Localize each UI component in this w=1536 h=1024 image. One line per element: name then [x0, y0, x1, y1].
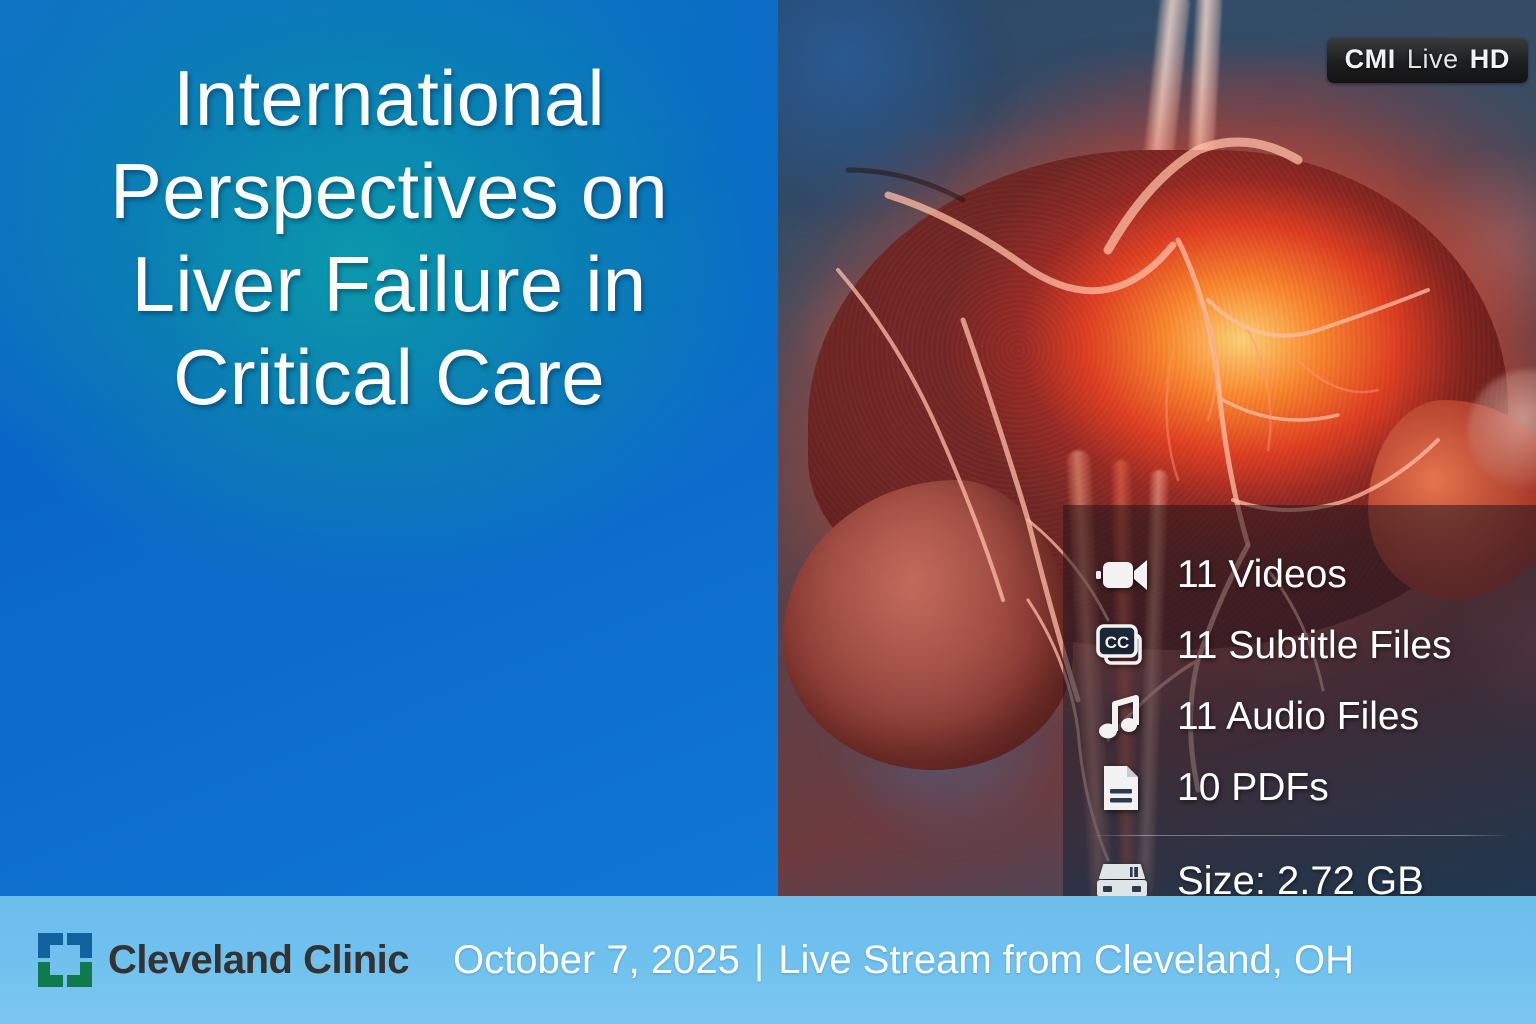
asset-row-audio: 11 Audio Files [1089, 681, 1536, 752]
asset-row-subtitles: CC 11 Subtitle Files [1089, 610, 1536, 681]
asset-row-pdfs: 10 PDFs [1089, 752, 1536, 823]
badge-quality-label: HD [1470, 44, 1510, 75]
hard-drive-icon [1089, 855, 1153, 897]
title-panel: International Perspectives on Liver Fail… [0, 0, 778, 896]
video-camera-icon [1089, 548, 1153, 602]
closed-caption-icon: CC [1089, 619, 1153, 673]
event-meta: October 7, 2025 | Live Stream from Cleve… [453, 938, 1354, 983]
page-title: International Perspectives on Liver Fail… [0, 52, 778, 424]
meta-separator: | [754, 938, 764, 983]
presentation-slide: International Perspectives on Liver Fail… [0, 0, 1536, 1024]
cleveland-clinic-logo-icon [36, 931, 94, 989]
event-location: Live Stream from Cleveland, OH [778, 938, 1354, 983]
title-line-3: Liver Failure in [24, 238, 754, 331]
asset-summary-panel: 11 Videos CC 11 Subtitle Files [1063, 505, 1536, 896]
pdf-document-icon [1089, 761, 1153, 815]
asset-row-videos: 11 Videos [1089, 539, 1536, 610]
music-note-icon [1089, 690, 1153, 744]
liver-illustration-image: CMI Live HD 11 Videos [778, 0, 1536, 896]
asset-label-pdfs: 10 PDFs [1177, 766, 1329, 810]
asset-label-audio: 11 Audio Files [1177, 695, 1419, 739]
status-badge: CMI Live HD [1327, 38, 1528, 83]
panel-divider [1089, 835, 1510, 836]
brand-lockup: Cleveland Clinic [36, 931, 409, 989]
asset-label-videos: 11 Videos [1177, 553, 1347, 597]
asset-label-subtitles: 11 Subtitle Files [1177, 624, 1452, 668]
footer-bar: Cleveland Clinic October 7, 2025 | Live … [0, 896, 1536, 1024]
event-date: October 7, 2025 [453, 938, 740, 983]
asset-label-size: Size: 2.72 GB [1177, 859, 1424, 896]
badge-brand: CMI [1345, 44, 1396, 75]
badge-live-label: Live [1407, 44, 1459, 75]
title-line-2: Perspectives on [24, 145, 754, 238]
title-line-4: Critical Care [24, 331, 754, 424]
svg-text:CC: CC [1105, 633, 1130, 652]
title-line-1: International [24, 52, 754, 145]
brand-name: Cleveland Clinic [108, 938, 409, 983]
asset-row-size: Size: 2.72 GB [1089, 846, 1536, 896]
